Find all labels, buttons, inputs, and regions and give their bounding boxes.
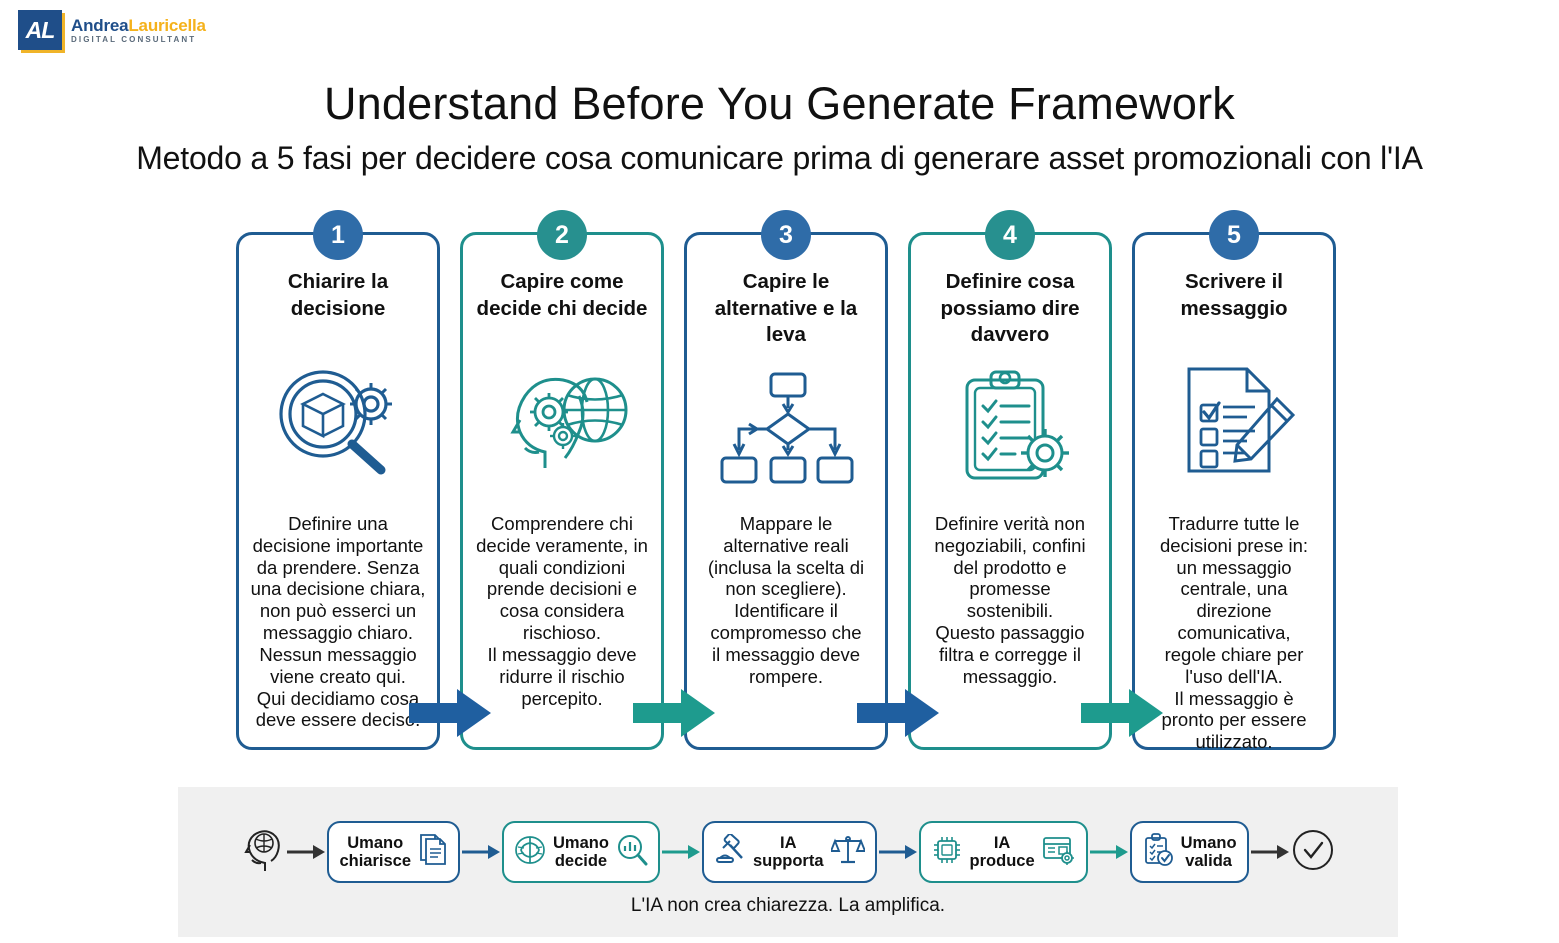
magnifier-box-gear-icon xyxy=(239,361,437,481)
step-title-1: Chiarire la decisione xyxy=(249,269,427,322)
step-body-1: Definire una decisione importante da pre… xyxy=(249,513,427,731)
human-head-brain-icon xyxy=(241,827,283,878)
flow-chip-label-2: IA supporta xyxy=(753,834,824,871)
step-number-badge-3: 3 xyxy=(761,210,811,260)
flow-arrow-5 xyxy=(1249,841,1291,863)
logo-text: AndreaLauricella DIGITAL CONSULTANT xyxy=(71,17,206,44)
flow-arrow-2 xyxy=(660,841,702,863)
flow-chip-label-1: Umano decide xyxy=(553,834,609,871)
head-gears-globe-icon xyxy=(463,361,661,481)
cpu-chip-icon xyxy=(931,834,963,871)
step-connector-arrow-3 xyxy=(857,687,939,739)
step-number-badge-1: 1 xyxy=(313,210,363,260)
flow-chip-umano-decide[interactable]: Umano decide xyxy=(502,821,660,883)
page-title: Understand Before You Generate Framework xyxy=(0,78,1559,130)
step-body-5: Tradurre tutte le decisioni prese in: un… xyxy=(1145,513,1323,753)
flow-arrow-4 xyxy=(1088,841,1130,863)
step-title-2: Capire come decide chi decide xyxy=(473,269,651,322)
step-card-3: 3 Capire le alternative e la leva Mappar… xyxy=(684,232,888,750)
check-circle-icon xyxy=(1291,828,1335,877)
brain-icon xyxy=(514,835,546,870)
decision-flowchart-icon xyxy=(687,371,885,491)
infographic-page: AL AndreaLauricella DIGITAL CONSULTANT U… xyxy=(0,0,1559,943)
chart-magnifier-icon xyxy=(616,834,648,871)
step-number-badge-4: 4 xyxy=(985,210,1035,260)
step-body-4: Definire verità non negoziabili, confini… xyxy=(921,513,1099,688)
step-body-3: Mappare le alternative reali (inclusa la… xyxy=(697,513,875,688)
step-connector-arrow-2 xyxy=(633,687,715,739)
flow-chip-umano-chiarisce[interactable]: Umano chiarisce xyxy=(327,821,460,883)
clipboard-checklist-gear-icon xyxy=(911,367,1109,487)
logo-name-second: Lauricella xyxy=(128,16,205,35)
documents-icon xyxy=(418,833,448,872)
logo-mark-icon: AL xyxy=(18,10,62,50)
flow-arrow-0 xyxy=(285,841,327,863)
step-body-2: Comprendere chi decide veramente, in qua… xyxy=(473,513,651,709)
flow-chip-umano-valida[interactable]: Umano valida xyxy=(1130,821,1249,883)
step-card-2: 2 Capire come decide chi decide xyxy=(460,232,664,750)
step-title-3: Capire le alternative e la leva xyxy=(697,269,875,349)
flow-chip-ia-supporta[interactable]: IA supporta xyxy=(702,821,877,883)
scales-icon xyxy=(831,834,865,871)
logo-tagline: DIGITAL CONSULTANT xyxy=(71,36,206,44)
step-card-1: 1 Chiarire la decisione xyxy=(236,232,440,750)
step-title-5: Scrivere il messaggio xyxy=(1145,269,1323,322)
flow-arrow-3 xyxy=(877,841,919,863)
gavel-icon xyxy=(714,834,746,871)
bottom-flow-row: Umano chiarisce xyxy=(178,815,1398,889)
bottom-flow-caption: L'IA non crea chiarezza. La amplifica. xyxy=(178,895,1398,917)
flow-arrow-1 xyxy=(460,841,502,863)
step-number-badge-2: 2 xyxy=(537,210,587,260)
steps-row: 1 Chiarire la decisione xyxy=(236,232,1336,750)
brand-logo: AL AndreaLauricella DIGITAL CONSULTANT xyxy=(18,10,206,50)
browser-gear-icon xyxy=(1042,834,1076,871)
step-card-5: 5 Scrivere il messaggio xyxy=(1132,232,1336,750)
flow-chip-label-3: IA produce xyxy=(970,834,1035,871)
logo-name-first: Andrea xyxy=(71,16,128,35)
flow-chip-label-0: Umano chiarisce xyxy=(339,834,411,871)
step-card-4: 4 Definire cosa possiamo dire davvero xyxy=(908,232,1112,750)
flow-chip-label-4: Umano valida xyxy=(1181,834,1237,871)
logo-name: AndreaLauricella xyxy=(71,17,206,34)
clipboard-check-icon xyxy=(1142,833,1174,872)
bottom-flow-strip: Umano chiarisce xyxy=(178,787,1398,937)
step-connector-arrow-4 xyxy=(1081,687,1163,739)
flow-chip-ia-produce[interactable]: IA produce xyxy=(919,821,1088,883)
step-number-badge-5: 5 xyxy=(1209,210,1259,260)
step-connector-arrow-1 xyxy=(409,687,491,739)
logo-initials: AL xyxy=(26,17,55,44)
step-title-4: Definire cosa possiamo dire davvero xyxy=(921,269,1099,349)
document-pencil-checklist-icon xyxy=(1135,361,1333,481)
page-subtitle: Metodo a 5 fasi per decidere cosa comuni… xyxy=(0,140,1559,182)
